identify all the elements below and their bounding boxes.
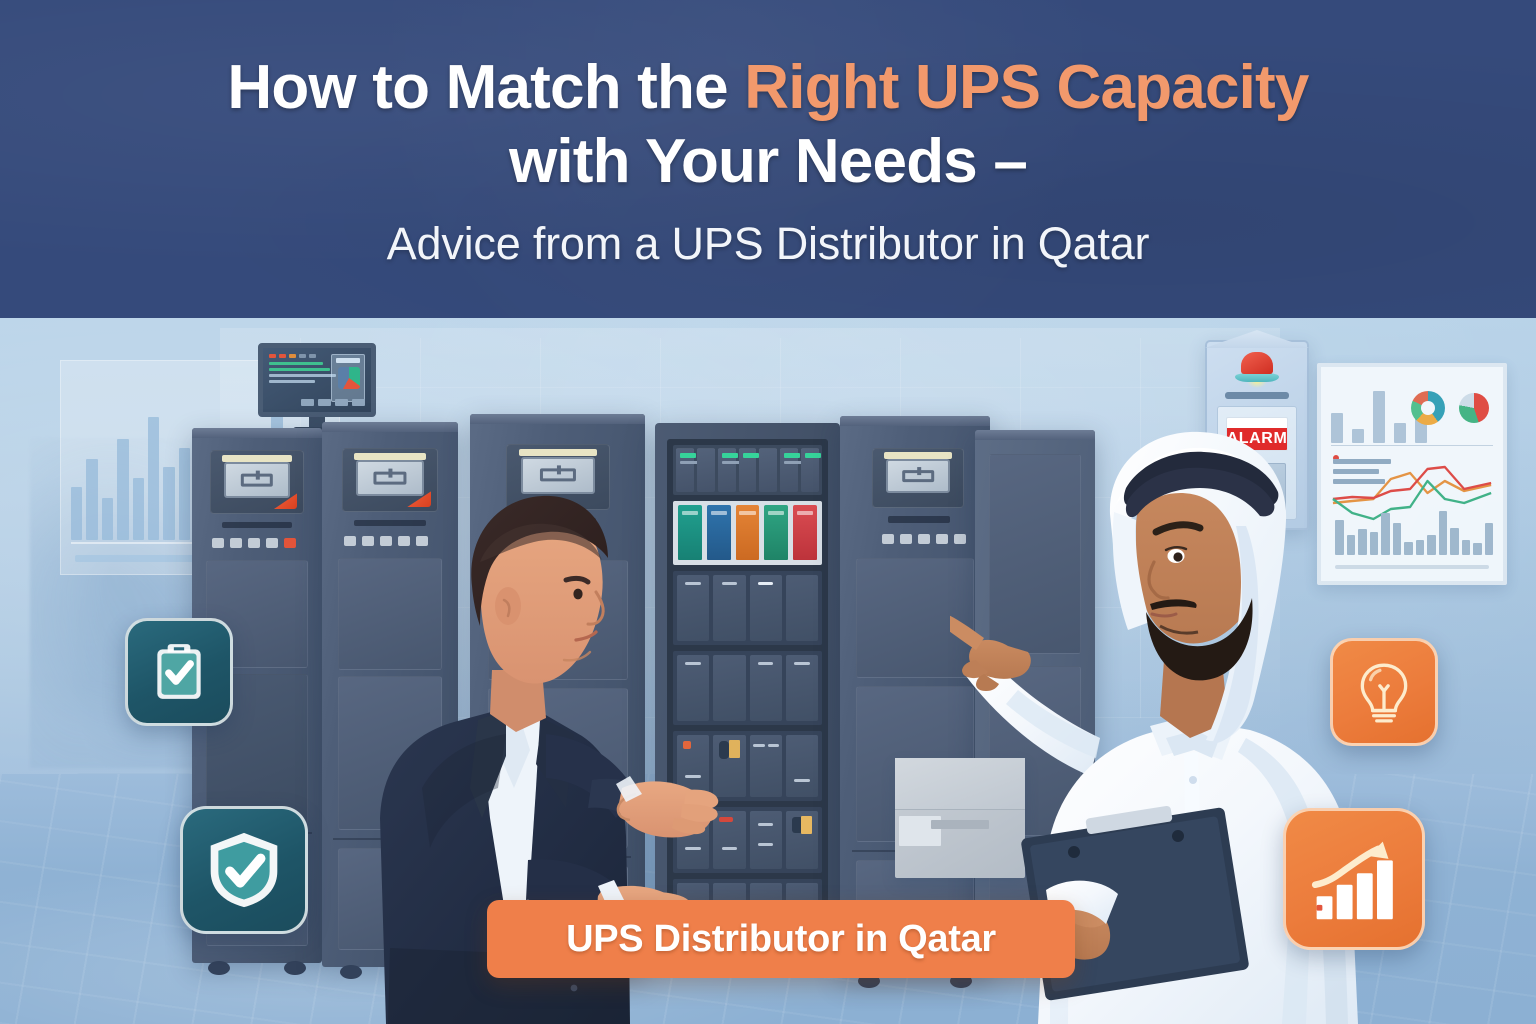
monitor-widget-card — [331, 354, 365, 402]
page-title-line-1: How to Match the Right UPS Capacity — [227, 54, 1308, 122]
wall-monitor — [258, 343, 376, 433]
ups-button-row-1 — [212, 538, 296, 548]
growth-chart-icon[interactable] — [1283, 808, 1425, 950]
ups-display-1 — [210, 450, 304, 514]
header-band: How to Match the Right UPS Capacity with… — [0, 0, 1536, 318]
poster-pie-chart — [1459, 393, 1489, 423]
clipboard-check-icon[interactable] — [125, 618, 233, 726]
siren-light-icon — [1235, 352, 1279, 382]
shield-check-icon[interactable] — [180, 806, 308, 934]
banner-root: How to Match the Right UPS Capacity with… — [0, 0, 1536, 1024]
monitor-buttons — [301, 399, 365, 406]
page-title-line-2: with Your Needs – — [509, 128, 1027, 196]
cta-button[interactable]: UPS Distributor in Qatar — [487, 900, 1075, 978]
page-subtitle: Advice from a UPS Distributor in Qatar — [387, 218, 1150, 270]
lightbulb-icon[interactable] — [1330, 638, 1438, 746]
title-accent-part: Right UPS Capacity — [744, 53, 1308, 122]
title-white-part: How to Match the — [227, 53, 744, 122]
cta-button-label: UPS Distributor in Qatar — [566, 918, 996, 961]
poster-donut-chart — [1411, 391, 1445, 425]
illustration-scene: ALARM — [0, 318, 1536, 1024]
monitor-screen — [258, 343, 376, 417]
